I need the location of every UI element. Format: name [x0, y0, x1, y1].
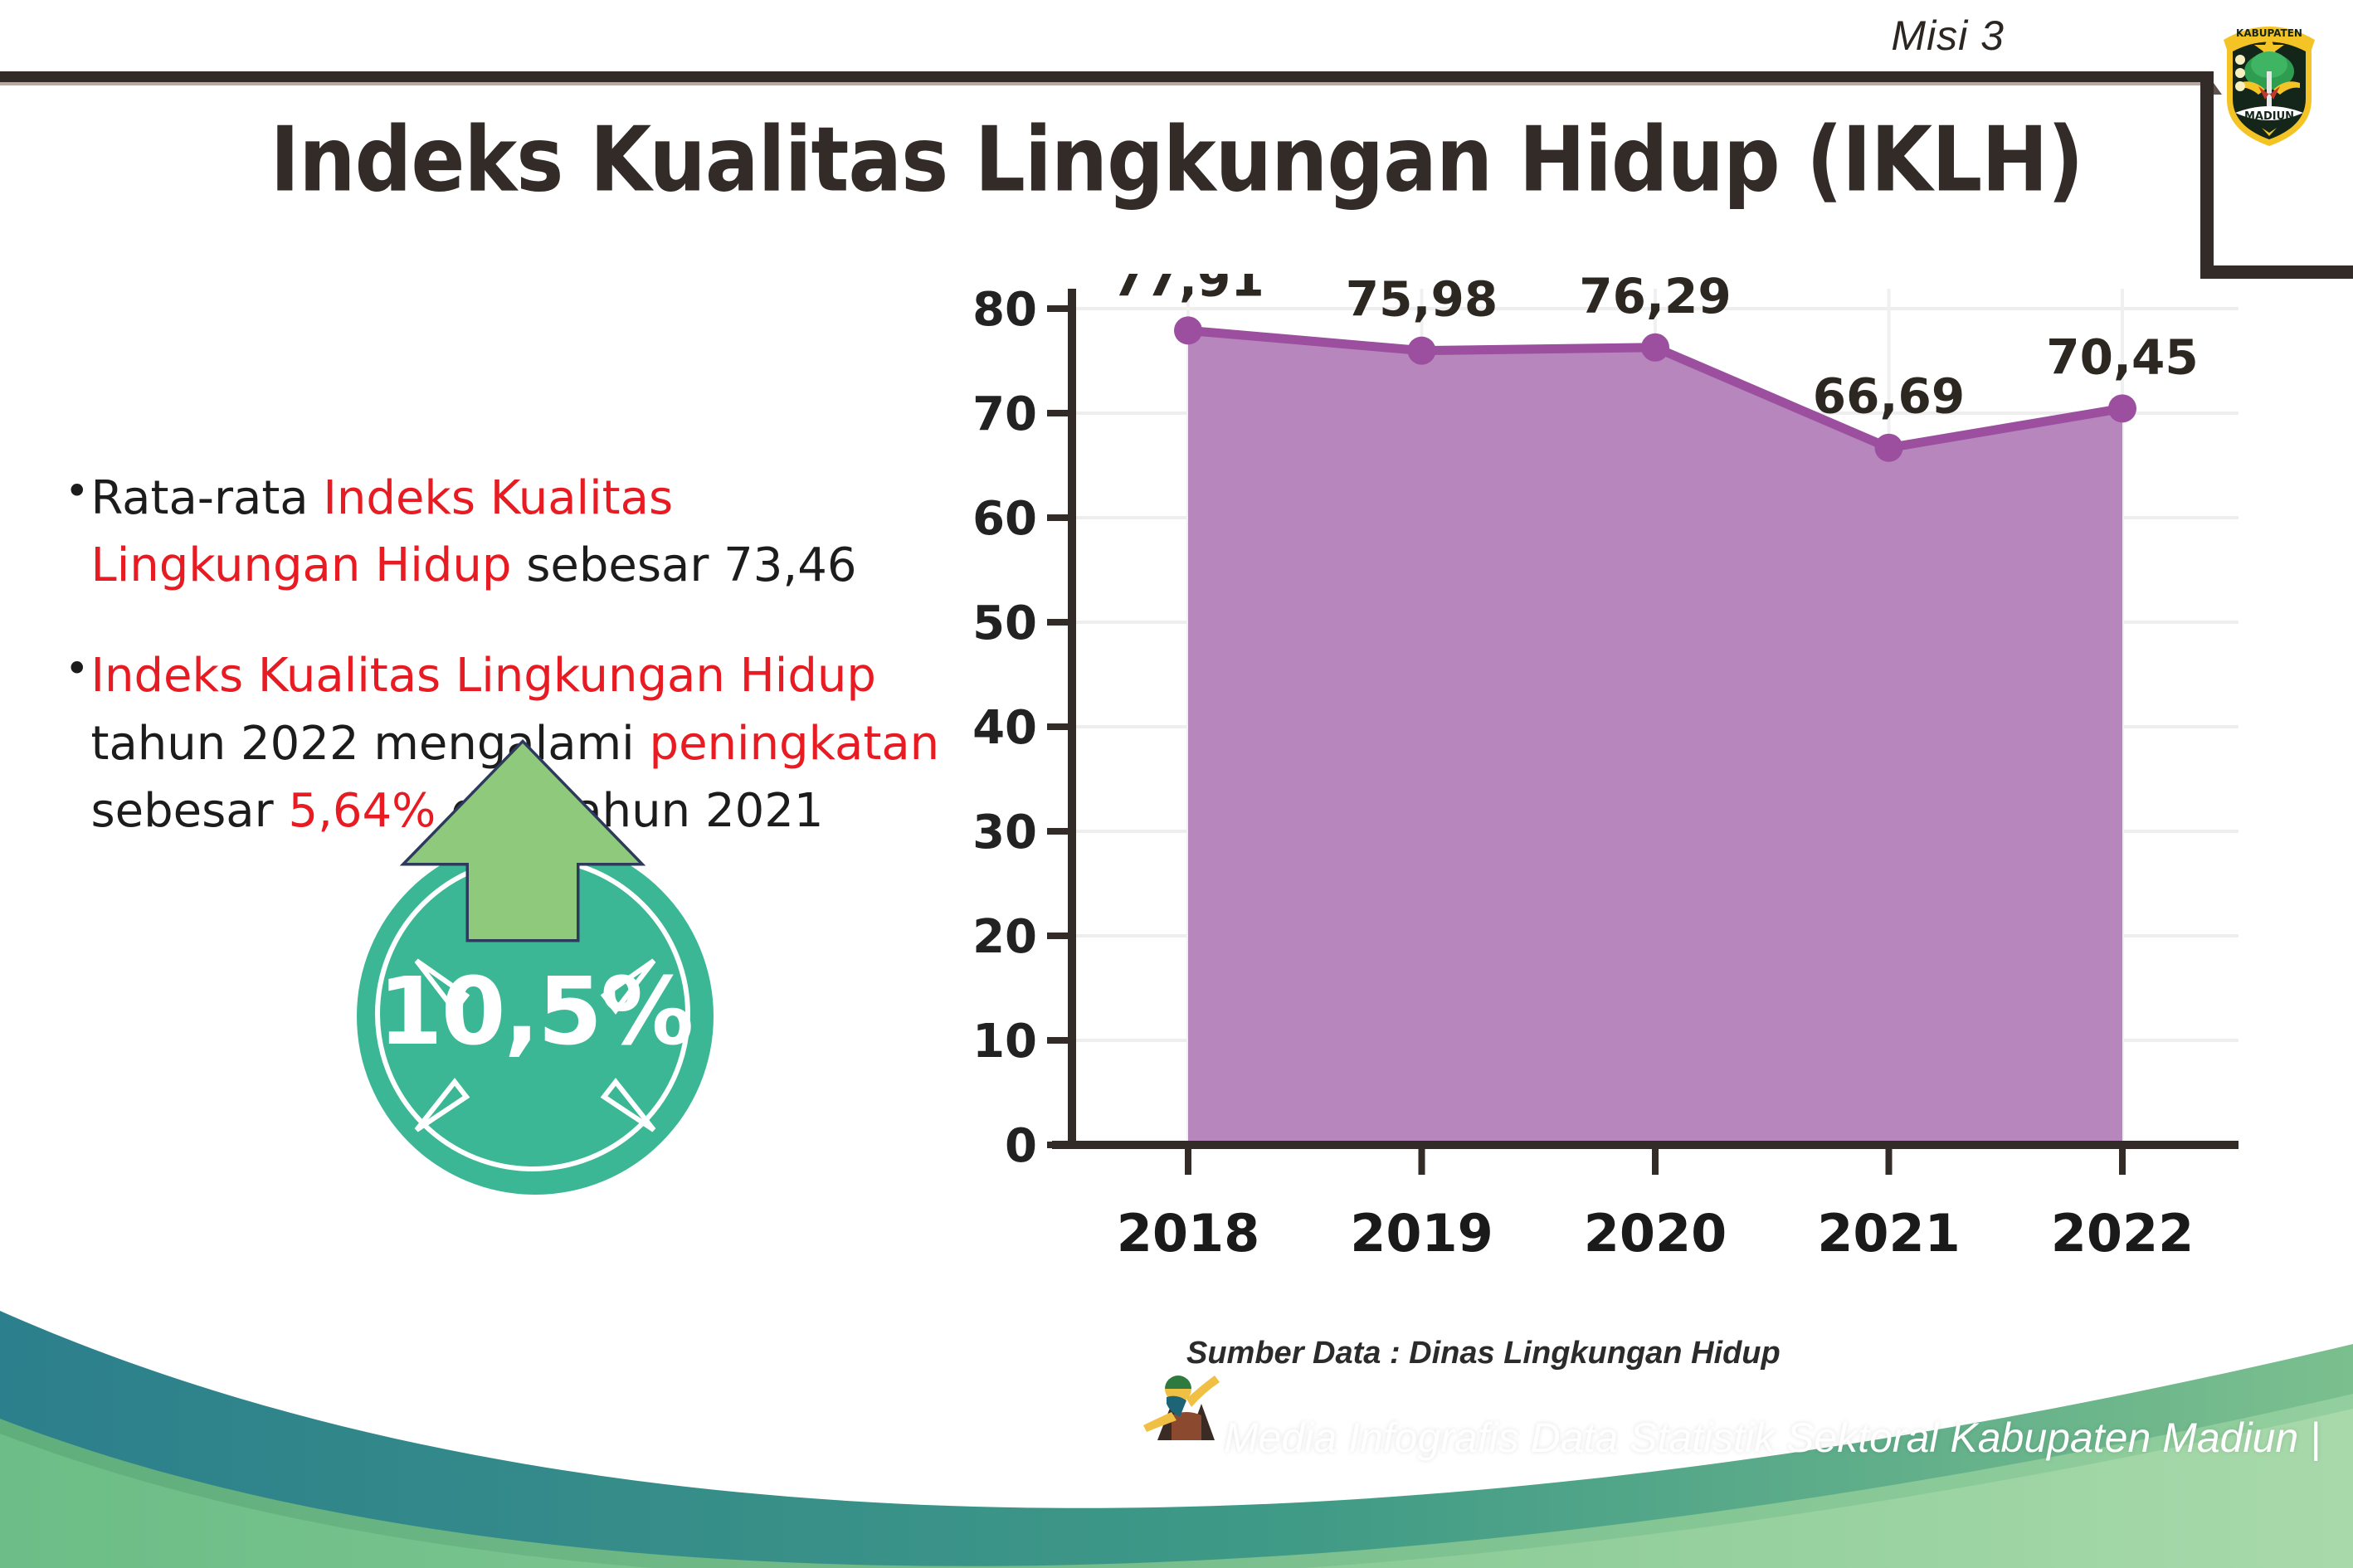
- chart-data-label: 66,69: [1813, 368, 1965, 425]
- header-divider: [0, 71, 2200, 82]
- chart-y-tick-label: 10: [972, 1015, 1037, 1069]
- chart-x-tick-label: 2018: [1117, 1203, 1260, 1264]
- narrative-item-1: Rata-rata Indeks Kualitas Lingkungan Hid…: [91, 465, 945, 599]
- narrative-2-part2: sebesar: [91, 784, 289, 838]
- crest-top-label: KABUPATEN: [2236, 27, 2302, 39]
- chart-data-label: 76,29: [1579, 274, 1731, 324]
- chart-x-tick-label: 2022: [2051, 1203, 2195, 1264]
- chart-y-tick-labels: 01020304050607080: [972, 283, 1072, 1173]
- chart-x-tick-label: 2019: [1350, 1203, 1493, 1264]
- chart-y-tick-label: 40: [972, 701, 1037, 755]
- increase-badge: 10,5%: [332, 738, 763, 1203]
- chart-x-tick-label: 2020: [1584, 1203, 1727, 1264]
- list-item: • Rata-rata Indeks Kualitas Lingkungan H…: [65, 465, 944, 599]
- badge-percent-value: 10,5%: [357, 958, 714, 1066]
- statistics-mascot-icon: [1128, 1361, 1236, 1485]
- chart-data-label: 70,45: [2046, 329, 2198, 385]
- footer-label: Media Infografis Data Statistik Sektoral…: [1224, 1414, 2321, 1462]
- chart-x-tick-label: 2021: [1817, 1203, 1961, 1264]
- chart-area-fill: [1188, 330, 2122, 1145]
- chart-y-tick-label: 0: [1005, 1119, 1037, 1173]
- chart-y-tick-label: 30: [972, 806, 1037, 859]
- bullet-marker: •: [65, 465, 90, 519]
- narrative-1-part2: sebesar 73,46: [511, 538, 856, 592]
- page-title: Indeks Kualitas Lingkungan Hidup (IKLH): [0, 108, 2353, 212]
- chart-y-tick-label: 60: [972, 492, 1037, 546]
- narrative-2-highlight1: Indeks Kualitas Lingkungan Hidup: [91, 649, 876, 703]
- chart-y-tick-label: 20: [972, 910, 1037, 964]
- narrative-1-part1: Rata-rata: [91, 471, 324, 525]
- chart-data-label: 75,98: [1346, 274, 1498, 328]
- misi-label: Misi 3: [1891, 12, 2005, 60]
- chart-y-tick-label: 80: [972, 283, 1037, 337]
- chart-x-tick-labels: 20182019202020212022: [1117, 1145, 2195, 1264]
- bullet-marker: •: [65, 642, 90, 696]
- chart-data-label: 77,91: [1112, 274, 1264, 307]
- chart-y-tick-label: 50: [972, 597, 1037, 650]
- iklh-area-chart: 01020304050607080 20182019202020212022 7…: [954, 274, 2298, 1269]
- chart-y-tick-label: 70: [972, 387, 1037, 441]
- header-divider-shadow: [0, 82, 2200, 85]
